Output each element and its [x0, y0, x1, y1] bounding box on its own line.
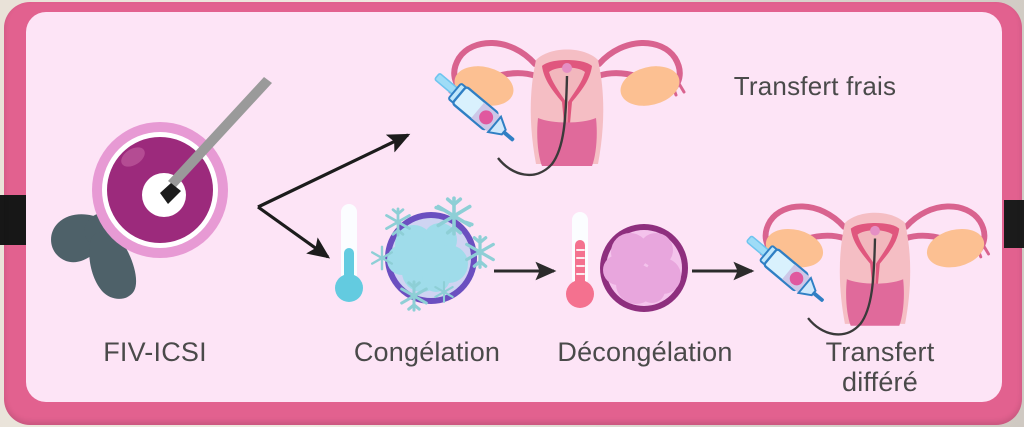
embryo-in-uterus [870, 226, 880, 236]
embryo-in-uterus [562, 63, 572, 73]
frozen-embryo-icon [336, 196, 496, 336]
uterus-transfer-icon-deferred [744, 188, 1006, 353]
right-edge-marker [1004, 200, 1024, 248]
ovary-right [923, 223, 988, 273]
thawed-embryo-icon [566, 206, 696, 331]
step-label-decongelation: Décongélation [540, 337, 750, 367]
cervix [846, 279, 904, 326]
step-label-transfert-frais: Transfert frais [700, 72, 930, 101]
infographic-root: FIV-ICSI [0, 0, 1024, 427]
cervix [537, 118, 597, 166]
left-edge-marker [0, 195, 26, 245]
arrow-freeze-to-thaw [492, 258, 572, 284]
oocyte-icsi-icon [40, 105, 270, 305]
arrow-to-freezing [258, 207, 328, 257]
uterus-transfer-icon-fresh [432, 24, 702, 194]
step-label-fiv-icsi: FIV-ICSI [60, 337, 250, 367]
step-label-congelation: Congélation [332, 337, 522, 367]
step-label-transfert-differe: Transfert différé [790, 337, 970, 397]
ovary-right [616, 60, 683, 111]
thermometer-warm-icon [566, 212, 594, 308]
thermometer-cold-icon [335, 204, 363, 302]
